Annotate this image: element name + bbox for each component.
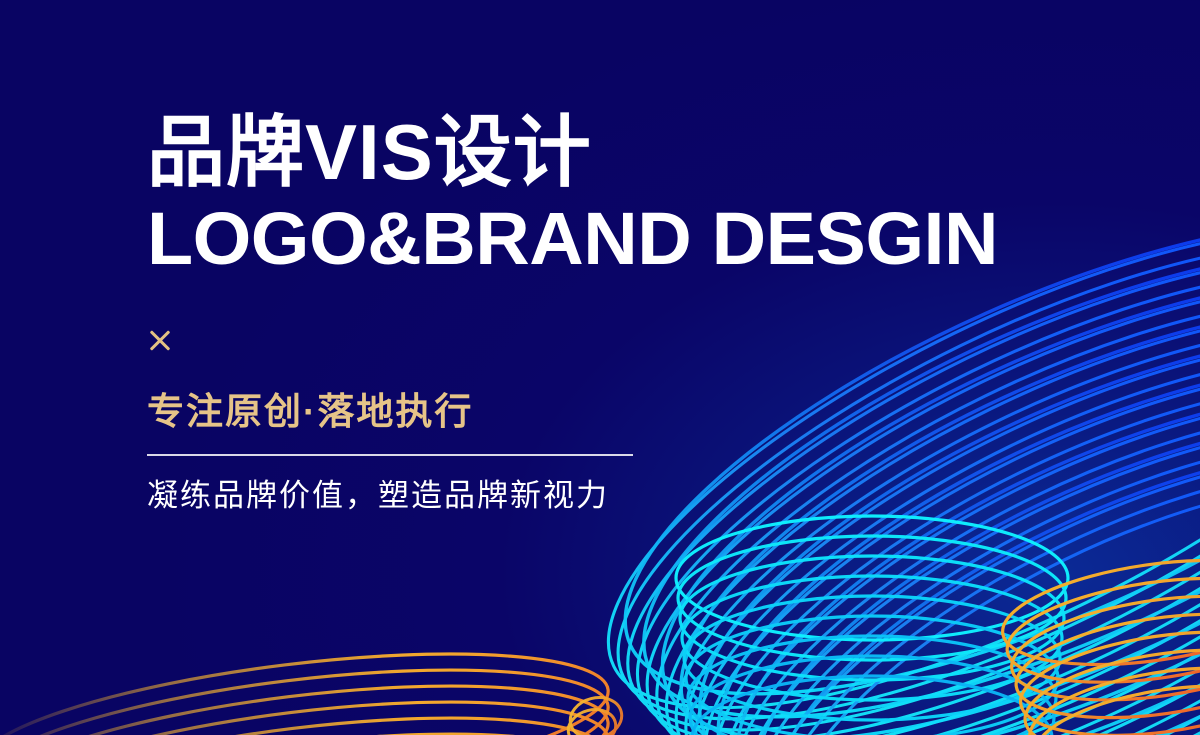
page-title-en: LOGO&BRAND DESGIN: [147, 196, 1116, 282]
slogan-primary: 专注原创·落地执行: [147, 390, 1097, 434]
page-title-cn: 品牌VIS设计: [147, 108, 1097, 196]
poster-text-block: 品牌VIS设计 LOGO&BRAND DESGIN 专注原创·落地执行 凝练品牌…: [147, 108, 1097, 517]
cross-mark-icon: [147, 328, 173, 354]
slogan-secondary: 凝练品牌价值，塑造品牌新视力: [147, 475, 1097, 517]
divider-rule: [147, 454, 633, 456]
poster-canvas: 品牌VIS设计 LOGO&BRAND DESGIN 专注原创·落地执行 凝练品牌…: [0, 0, 1200, 735]
